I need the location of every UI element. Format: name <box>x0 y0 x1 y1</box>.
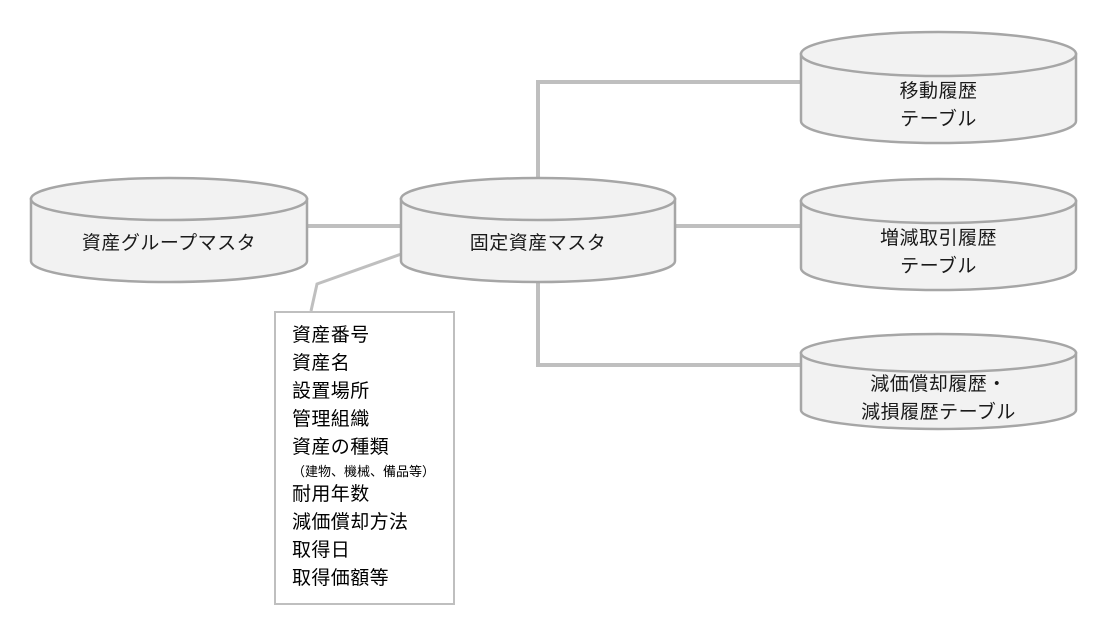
node-label-increase-decrease-transaction-history-table: 増減取引履歴 テーブル <box>800 225 1077 280</box>
node-depreciation-impairment-history-table[interactable]: 減価償却履歴・ 減損履歴テーブル <box>800 333 1077 430</box>
attribute-item: 減価償却方法 <box>292 509 453 537</box>
attribute-item-note: （建物、機械、備品等） <box>292 462 453 481</box>
attribute-box[interactable]: 資産番号 資産名 設置場所 管理組織 資産の種類 （建物、機械、備品等） 耐用年… <box>274 311 455 605</box>
node-fixed-asset-master[interactable]: 固定資産マスタ <box>400 177 676 283</box>
database-relationship-diagram: 資産グループマスタ 固定資産マスタ 移動履歴 テーブル 増減取引履歴 テーブル … <box>0 0 1110 640</box>
attribute-list: 資産番号 資産名 設置場所 管理組織 資産の種類 （建物、機械、備品等） 耐用年… <box>276 313 453 593</box>
attribute-item: 取得日 <box>292 537 453 565</box>
node-label-asset-group-master: 資産グループマスタ <box>30 230 308 258</box>
node-label-movement-history-table: 移動履歴 テーブル <box>800 78 1077 133</box>
node-label-depreciation-impairment-history-table: 減価償却履歴・ 減損履歴テーブル <box>800 371 1077 426</box>
connector-fixed-to-movement <box>538 82 801 182</box>
attribute-item: 資産番号 <box>292 322 453 350</box>
attribute-item: 管理組織 <box>292 406 453 434</box>
node-label-fixed-asset-master: 固定資産マスタ <box>400 230 676 258</box>
node-movement-history-table[interactable]: 移動履歴 テーブル <box>800 31 1077 145</box>
node-increase-decrease-transaction-history-table[interactable]: 増減取引履歴 テーブル <box>800 178 1077 292</box>
attribute-item: 資産の種類 <box>292 434 453 462</box>
node-asset-group-master[interactable]: 資産グループマスタ <box>30 177 308 283</box>
attribute-item: 設置場所 <box>292 378 453 406</box>
attribute-item: 耐用年数 <box>292 481 453 509</box>
attribute-item: 資産名 <box>292 350 453 378</box>
attribute-item: 取得価額等 <box>292 565 453 593</box>
connector-fixed-to-depreciation <box>538 279 801 365</box>
